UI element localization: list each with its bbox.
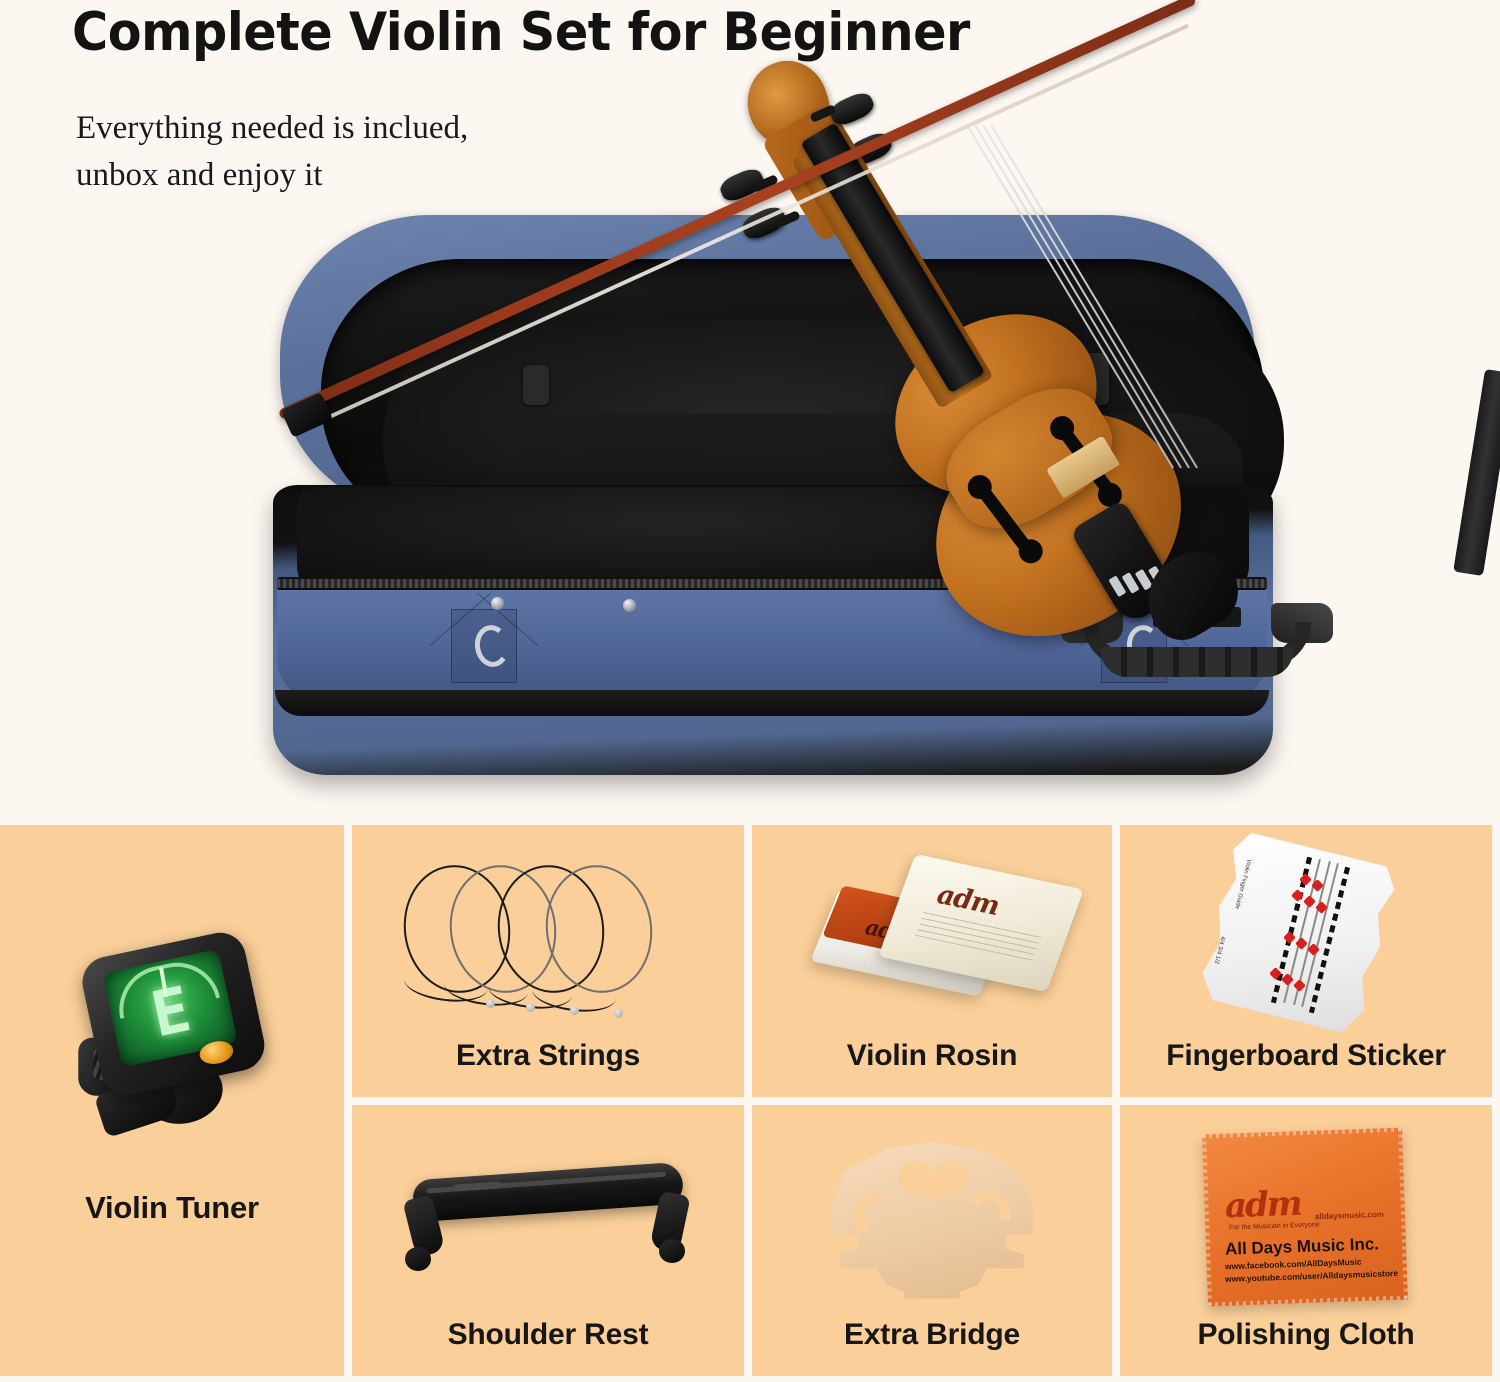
bow-hair [291,24,1189,436]
polishing-cloth-icon: adm alldaysmusic.com For the Musician in… [1120,1123,1492,1313]
string-ball-end [526,1003,535,1012]
accessory-label-polishing-cloth: Polishing Cloth [1120,1318,1492,1376]
bow-stick [278,0,1197,421]
violin-rosin-icon: adm adm [752,863,1112,1023]
accessory-label-violin-tuner: Violin Tuner [0,1190,344,1376]
accessory-label-extra-strings: Extra Strings [352,1039,744,1097]
sticker-card [1197,829,1400,1036]
cloth-domain: alldaysmusic.com [1315,1209,1384,1220]
string-ball-end [570,1006,579,1015]
string-ball-end [614,1009,623,1018]
accessory-panel-extra-bridge[interactable]: Extra Bridge [752,1105,1112,1377]
shoulder-rest-pad [659,1239,685,1263]
accessory-panel-extra-strings[interactable]: Extra Strings [352,825,744,1097]
accessory-label-extra-bridge: Extra Bridge [752,1318,1112,1376]
shoulder-rest-icon [352,1155,744,1285]
accessories-grid: E Violin Tuner [0,825,1500,1382]
accessory-label-fingerboard-sticker: Fingerboard Sticker [1120,1039,1492,1097]
string-ball-end [486,999,495,1008]
hero-section: Complete Violin Set for Beginner Everyth… [0,0,1500,825]
accessory-panel-violin-tuner[interactable]: E Violin Tuner [0,825,344,1376]
accessory-panel-shoulder-rest[interactable]: Shoulder Rest [352,1105,744,1377]
fingerboard-sticker-icon: Violin Finger Guide 4/4 3/4 1/2 [1120,841,1492,1031]
bridge-heart-notch [913,1185,951,1197]
bridge-silhouette [817,1131,1047,1299]
accessory-panel-violin-rosin[interactable]: adm adm Violin Rosin [752,825,1112,1097]
violin-bow [0,0,1500,825]
cloth-brand: adm [1224,1183,1301,1226]
accessory-label-shoulder-rest: Shoulder Rest [352,1318,744,1376]
accessory-panel-polishing-cloth[interactable]: adm alldaysmusic.com For the Musician in… [1120,1105,1492,1377]
shoulder-rest-bar [412,1161,684,1222]
violin-bridge-icon [752,1131,1112,1299]
accessory-panel-fingerboard-sticker[interactable]: Violin Finger Guide 4/4 3/4 1/2 Fingerbo… [1120,825,1492,1097]
shoulder-rest-pad [405,1247,431,1271]
extra-strings-icon [352,859,744,1029]
accessory-label-violin-rosin: Violin Rosin [752,1039,1112,1097]
violin-tuner-icon: E [0,935,344,1185]
